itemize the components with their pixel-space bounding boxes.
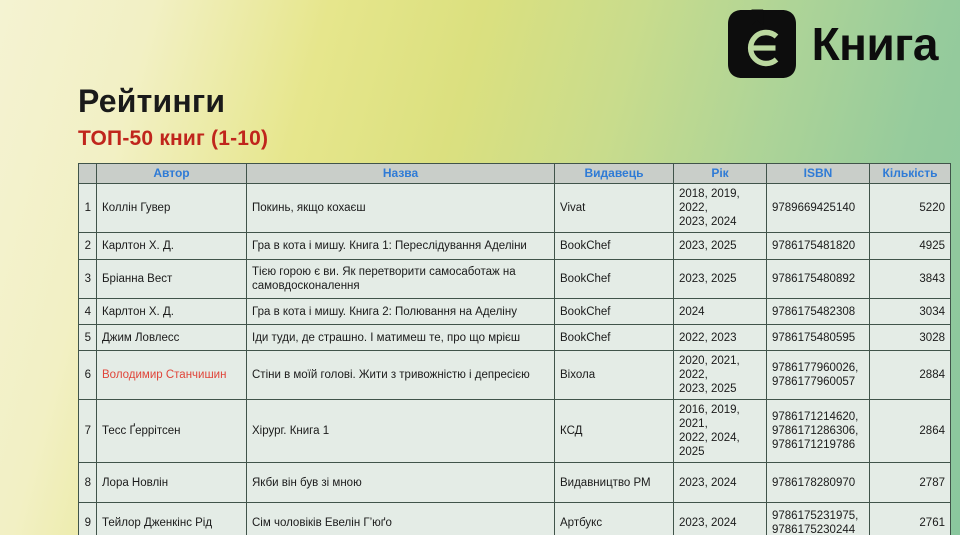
cell-isbn: 9789669425140: [767, 184, 870, 233]
cell-title: Гра в кота і мишу. Книга 1: Переслідуван…: [247, 233, 555, 260]
column-header-count[interactable]: Кількість: [870, 164, 951, 184]
cell-count: 2884: [870, 351, 951, 400]
cell-year: 2023, 2024: [674, 463, 767, 503]
cell-publisher: BookChef: [555, 233, 674, 260]
cell-isbn: 9786175481820: [767, 233, 870, 260]
page-title: Рейтинги: [78, 83, 225, 120]
table-row[interactable]: 1Коллін ГуверПокинь, якщо кохаєшVivat201…: [79, 184, 951, 233]
column-header-publisher[interactable]: Видавець: [555, 164, 674, 184]
cell-publisher: Vivat: [555, 184, 674, 233]
eknyha-app-icon: [726, 8, 798, 80]
cell-publisher: Віхола: [555, 351, 674, 400]
cell-count: 3034: [870, 299, 951, 325]
cell-rank: 3: [79, 260, 97, 299]
cell-rank: 6: [79, 351, 97, 400]
cell-isbn: 9786175480595: [767, 325, 870, 351]
cell-author: Тесс Ґеррітсен: [97, 400, 247, 463]
cell-publisher: Видавництво РМ: [555, 463, 674, 503]
cell-rank: 9: [79, 503, 97, 535]
table-row[interactable]: 8Лора НовлінЯкби він був зі мноюВидавниц…: [79, 463, 951, 503]
cell-rank: 7: [79, 400, 97, 463]
cell-isbn: 9786175480892: [767, 260, 870, 299]
table-header-row: Автор Назва Видавець Рік ISBN Кількість: [79, 164, 951, 184]
cell-count: 2864: [870, 400, 951, 463]
cell-rank: 1: [79, 184, 97, 233]
cell-count: 4925: [870, 233, 951, 260]
cell-title: Стіни в моїй голові. Жити з тривожністю …: [247, 351, 555, 400]
table-row[interactable]: 7Тесс ҐеррітсенХірург. Книга 1КСД2016, 2…: [79, 400, 951, 463]
cell-author: Лора Новлін: [97, 463, 247, 503]
cell-year: 2016, 2019, 2021, 2022, 2024, 2025: [674, 400, 767, 463]
cell-publisher: BookChef: [555, 260, 674, 299]
cell-publisher: BookChef: [555, 299, 674, 325]
cell-rank: 8: [79, 463, 97, 503]
table-row[interactable]: 3Бріанна ВестТією горою є ви. Як перетво…: [79, 260, 951, 299]
cell-count: 3843: [870, 260, 951, 299]
cell-title: Тією горою є ви. Як перетворити самосабо…: [247, 260, 555, 299]
cell-publisher: КСД: [555, 400, 674, 463]
cell-author: Карлтон Х. Д.: [97, 299, 247, 325]
ratings-table: Автор Назва Видавець Рік ISBN Кількість …: [78, 163, 951, 535]
cell-count: 3028: [870, 325, 951, 351]
cell-title: Іди туди, де страшно. І матимеш те, про …: [247, 325, 555, 351]
cell-year: 2020, 2021, 2022, 2023, 2025: [674, 351, 767, 400]
cell-publisher: BookChef: [555, 325, 674, 351]
table-row[interactable]: 2Карлтон Х. Д.Гра в кота і мишу. Книга 1…: [79, 233, 951, 260]
table-row[interactable]: 6Володимир СтанчишинСтіни в моїй голові.…: [79, 351, 951, 400]
cell-year: 2022, 2023: [674, 325, 767, 351]
column-header-author[interactable]: Автор: [97, 164, 247, 184]
ratings-table-container: Автор Назва Видавець Рік ISBN Кількість …: [78, 163, 950, 535]
cell-title: Покинь, якщо кохаєш: [247, 184, 555, 233]
table-body: 1Коллін ГуверПокинь, якщо кохаєшVivat201…: [79, 184, 951, 535]
cell-isbn: 9786177960026, 9786177960057: [767, 351, 870, 400]
cell-author: Володимир Станчишин: [97, 351, 247, 400]
cell-isbn: 9786178280970: [767, 463, 870, 503]
cell-count: 2761: [870, 503, 951, 535]
cell-isbn: 9786171214620, 9786171286306, 9786171219…: [767, 400, 870, 463]
cell-publisher: Артбукс: [555, 503, 674, 535]
page-subtitle: ТОП-50 книг (1-10): [78, 127, 268, 151]
cell-rank: 5: [79, 325, 97, 351]
table-row[interactable]: 4Карлтон Х. Д.Гра в кота і мишу. Книга 2…: [79, 299, 951, 325]
cell-author: Бріанна Вест: [97, 260, 247, 299]
cell-author: Карлтон Х. Д.: [97, 233, 247, 260]
cell-year: 2018, 2019, 2022, 2023, 2024: [674, 184, 767, 233]
cell-author: Тейлор Дженкінс Рід: [97, 503, 247, 535]
cell-year: 2024: [674, 299, 767, 325]
brand-logo: Книга: [726, 8, 938, 80]
cell-count: 5220: [870, 184, 951, 233]
column-header-title[interactable]: Назва: [247, 164, 555, 184]
column-header-year[interactable]: Рік: [674, 164, 767, 184]
cell-title: Якби він був зі мною: [247, 463, 555, 503]
cell-year: 2023, 2025: [674, 260, 767, 299]
cell-year: 2023, 2025: [674, 233, 767, 260]
cell-isbn: 9786175231975, 9786175230244: [767, 503, 870, 535]
table-row[interactable]: 5Джим ЛовлессІди туди, де страшно. І мат…: [79, 325, 951, 351]
cell-author: Коллін Гувер: [97, 184, 247, 233]
cell-rank: 2: [79, 233, 97, 260]
table-row[interactable]: 9Тейлор Дженкінс РідСім чоловіків Евелін…: [79, 503, 951, 535]
column-header-index[interactable]: [79, 164, 97, 184]
table-header: Автор Назва Видавець Рік ISBN Кількість: [79, 164, 951, 184]
brand-wordmark: Книга: [812, 21, 938, 67]
column-header-isbn[interactable]: ISBN: [767, 164, 870, 184]
cell-count: 2787: [870, 463, 951, 503]
cell-title: Хірург. Книга 1: [247, 400, 555, 463]
cell-year: 2023, 2024: [674, 503, 767, 535]
cell-rank: 4: [79, 299, 97, 325]
cell-isbn: 9786175482308: [767, 299, 870, 325]
cell-title: Сім чоловіків Евелін Г’юґо: [247, 503, 555, 535]
cell-title: Гра в кота і мишу. Книга 2: Полювання на…: [247, 299, 555, 325]
cell-author: Джим Ловлесс: [97, 325, 247, 351]
